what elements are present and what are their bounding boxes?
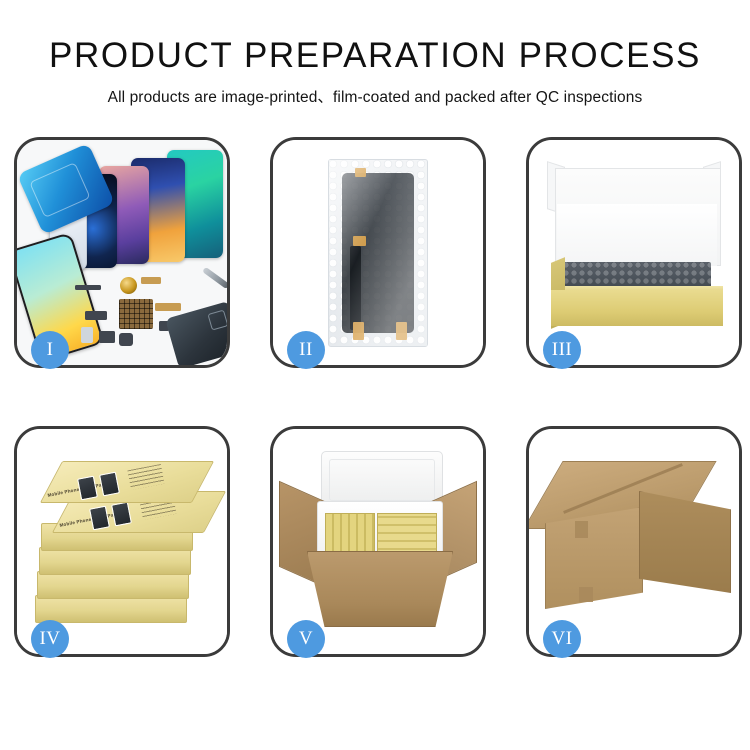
step-badge-4: IV	[31, 620, 69, 658]
foam-sheet	[557, 204, 717, 266]
page-title: PRODUCT PREPARATION PROCESS	[0, 38, 750, 75]
page-subtitle: All products are image-printed、film-coat…	[0, 85, 750, 107]
tape-tab-bottom-right	[396, 322, 407, 340]
packed-retail-boxes-right	[377, 513, 437, 557]
sim-tray-part	[81, 327, 93, 343]
carton-front-face	[545, 507, 643, 609]
step-badge-1: I	[31, 331, 69, 369]
page-header: PRODUCT PREPARATION PROCESS All products…	[0, 0, 750, 107]
packed-retail-boxes-left	[325, 513, 375, 557]
process-step-panel-4: Mobile Phone Spare Parts Mobile Phone Sp…	[14, 426, 230, 657]
gold-contact-part	[141, 277, 161, 284]
step-badge-3: III	[543, 331, 581, 369]
vibration-motor-part	[119, 333, 133, 346]
retail-box-4	[39, 547, 191, 575]
process-step-panel-5: V	[270, 426, 486, 657]
process-step-panel-1: I	[14, 137, 230, 368]
antenna-flex-part	[155, 303, 181, 311]
step-badge-6: VI	[543, 620, 581, 658]
tape-tab-bottom-left	[353, 322, 364, 340]
retail-box-1-lid	[40, 461, 214, 503]
retail-box-5	[37, 571, 189, 599]
shipping-carton-open	[307, 551, 453, 627]
step-badge-5: V	[287, 620, 325, 658]
carton-side-face	[639, 491, 731, 593]
retail-box-6	[35, 595, 187, 623]
flex-cable-part	[75, 285, 101, 290]
loudspeaker-part	[120, 277, 137, 294]
process-step-panel-2: II	[270, 137, 486, 368]
process-step-panel-3: III	[526, 137, 742, 368]
yellow-inner-box	[551, 290, 723, 326]
tape-tab-mid	[353, 236, 366, 246]
bubble-wrap-bag	[328, 159, 428, 347]
flex-cable-strip	[350, 246, 361, 330]
packing-tape-lower	[579, 587, 593, 602]
connector-part	[85, 311, 107, 320]
logic-board-part	[119, 299, 153, 329]
process-step-panel-6: VI	[526, 426, 742, 657]
spare-parts-group	[75, 275, 227, 361]
tape-tab-top	[355, 168, 366, 177]
box-stack: Mobile Phone Spare Parts Mobile Phone Sp…	[29, 455, 219, 631]
camera-module-part	[99, 331, 115, 343]
packing-tape-upper	[575, 521, 588, 538]
process-step-grid: I II III	[14, 137, 742, 657]
step-badge-2: II	[287, 331, 325, 369]
screwdriver-tool	[202, 267, 227, 289]
